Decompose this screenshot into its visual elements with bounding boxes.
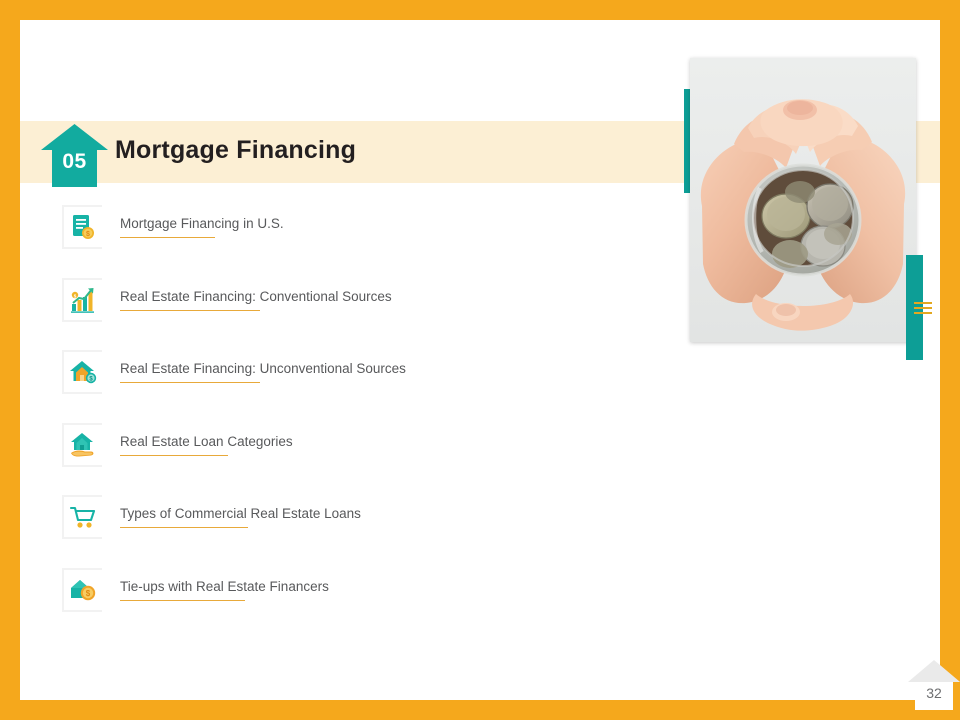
gold-lines-decoration (914, 302, 932, 322)
document-dollar-icon: $ (62, 205, 102, 249)
list-item-label: Mortgage Financing in U.S. (120, 216, 284, 231)
list-item[interactable]: $ Real Estate Financing: Conventional So… (62, 278, 622, 351)
svg-text:$: $ (86, 231, 90, 238)
agenda-list: $ Mortgage Financing in U.S. $ (62, 205, 622, 640)
page-number: 32 (908, 685, 960, 701)
page-number-badge: 32 (908, 658, 960, 716)
list-item-underline (120, 600, 245, 601)
house-in-hand-icon (62, 423, 102, 467)
photo-illustration (690, 58, 916, 342)
section-number-house-badge: 05 (41, 124, 108, 187)
list-item-label: Types of Commercial Real Estate Loans (120, 506, 361, 521)
list-item-label: Tie-ups with Real Estate Financers (120, 579, 329, 594)
list-item-underline (120, 455, 228, 456)
svg-text:$: $ (74, 293, 77, 298)
list-item-underline (120, 237, 215, 238)
section-number: 05 (41, 150, 108, 174)
house-dollar-icon: $ (62, 350, 102, 394)
shopping-cart-icon (62, 495, 102, 539)
frame-border-top (0, 0, 960, 20)
photo-hands-holding-coins (690, 58, 916, 342)
house-coin-icon: $ (62, 568, 102, 612)
list-item[interactable]: $ Tie-ups with Real Estate Financers (62, 568, 622, 641)
list-item-label: Real Estate Loan Categories (120, 434, 293, 449)
list-item[interactable]: $ Mortgage Financing in U.S. (62, 205, 622, 278)
list-item-underline (120, 527, 248, 528)
frame-border-left (0, 0, 20, 720)
list-item-label: Real Estate Financing: Conventional Sour… (120, 289, 392, 304)
list-item-label: Real Estate Financing: Unconventional So… (120, 361, 406, 376)
list-item[interactable]: $ Real Estate Financing: Unconventional … (62, 350, 622, 423)
frame-border-bottom (0, 700, 960, 720)
list-item-underline (120, 382, 260, 383)
frame-border-right (940, 0, 960, 720)
list-item-underline (120, 310, 260, 311)
slide: 05 Mortgage Financing $ Mortgage Financi… (0, 0, 960, 720)
list-item[interactable]: Real Estate Loan Categories (62, 423, 622, 496)
bar-chart-growth-icon: $ (62, 278, 102, 322)
svg-text:$: $ (86, 589, 91, 598)
list-item[interactable]: Types of Commercial Real Estate Loans (62, 495, 622, 568)
page-title: Mortgage Financing (115, 136, 356, 165)
